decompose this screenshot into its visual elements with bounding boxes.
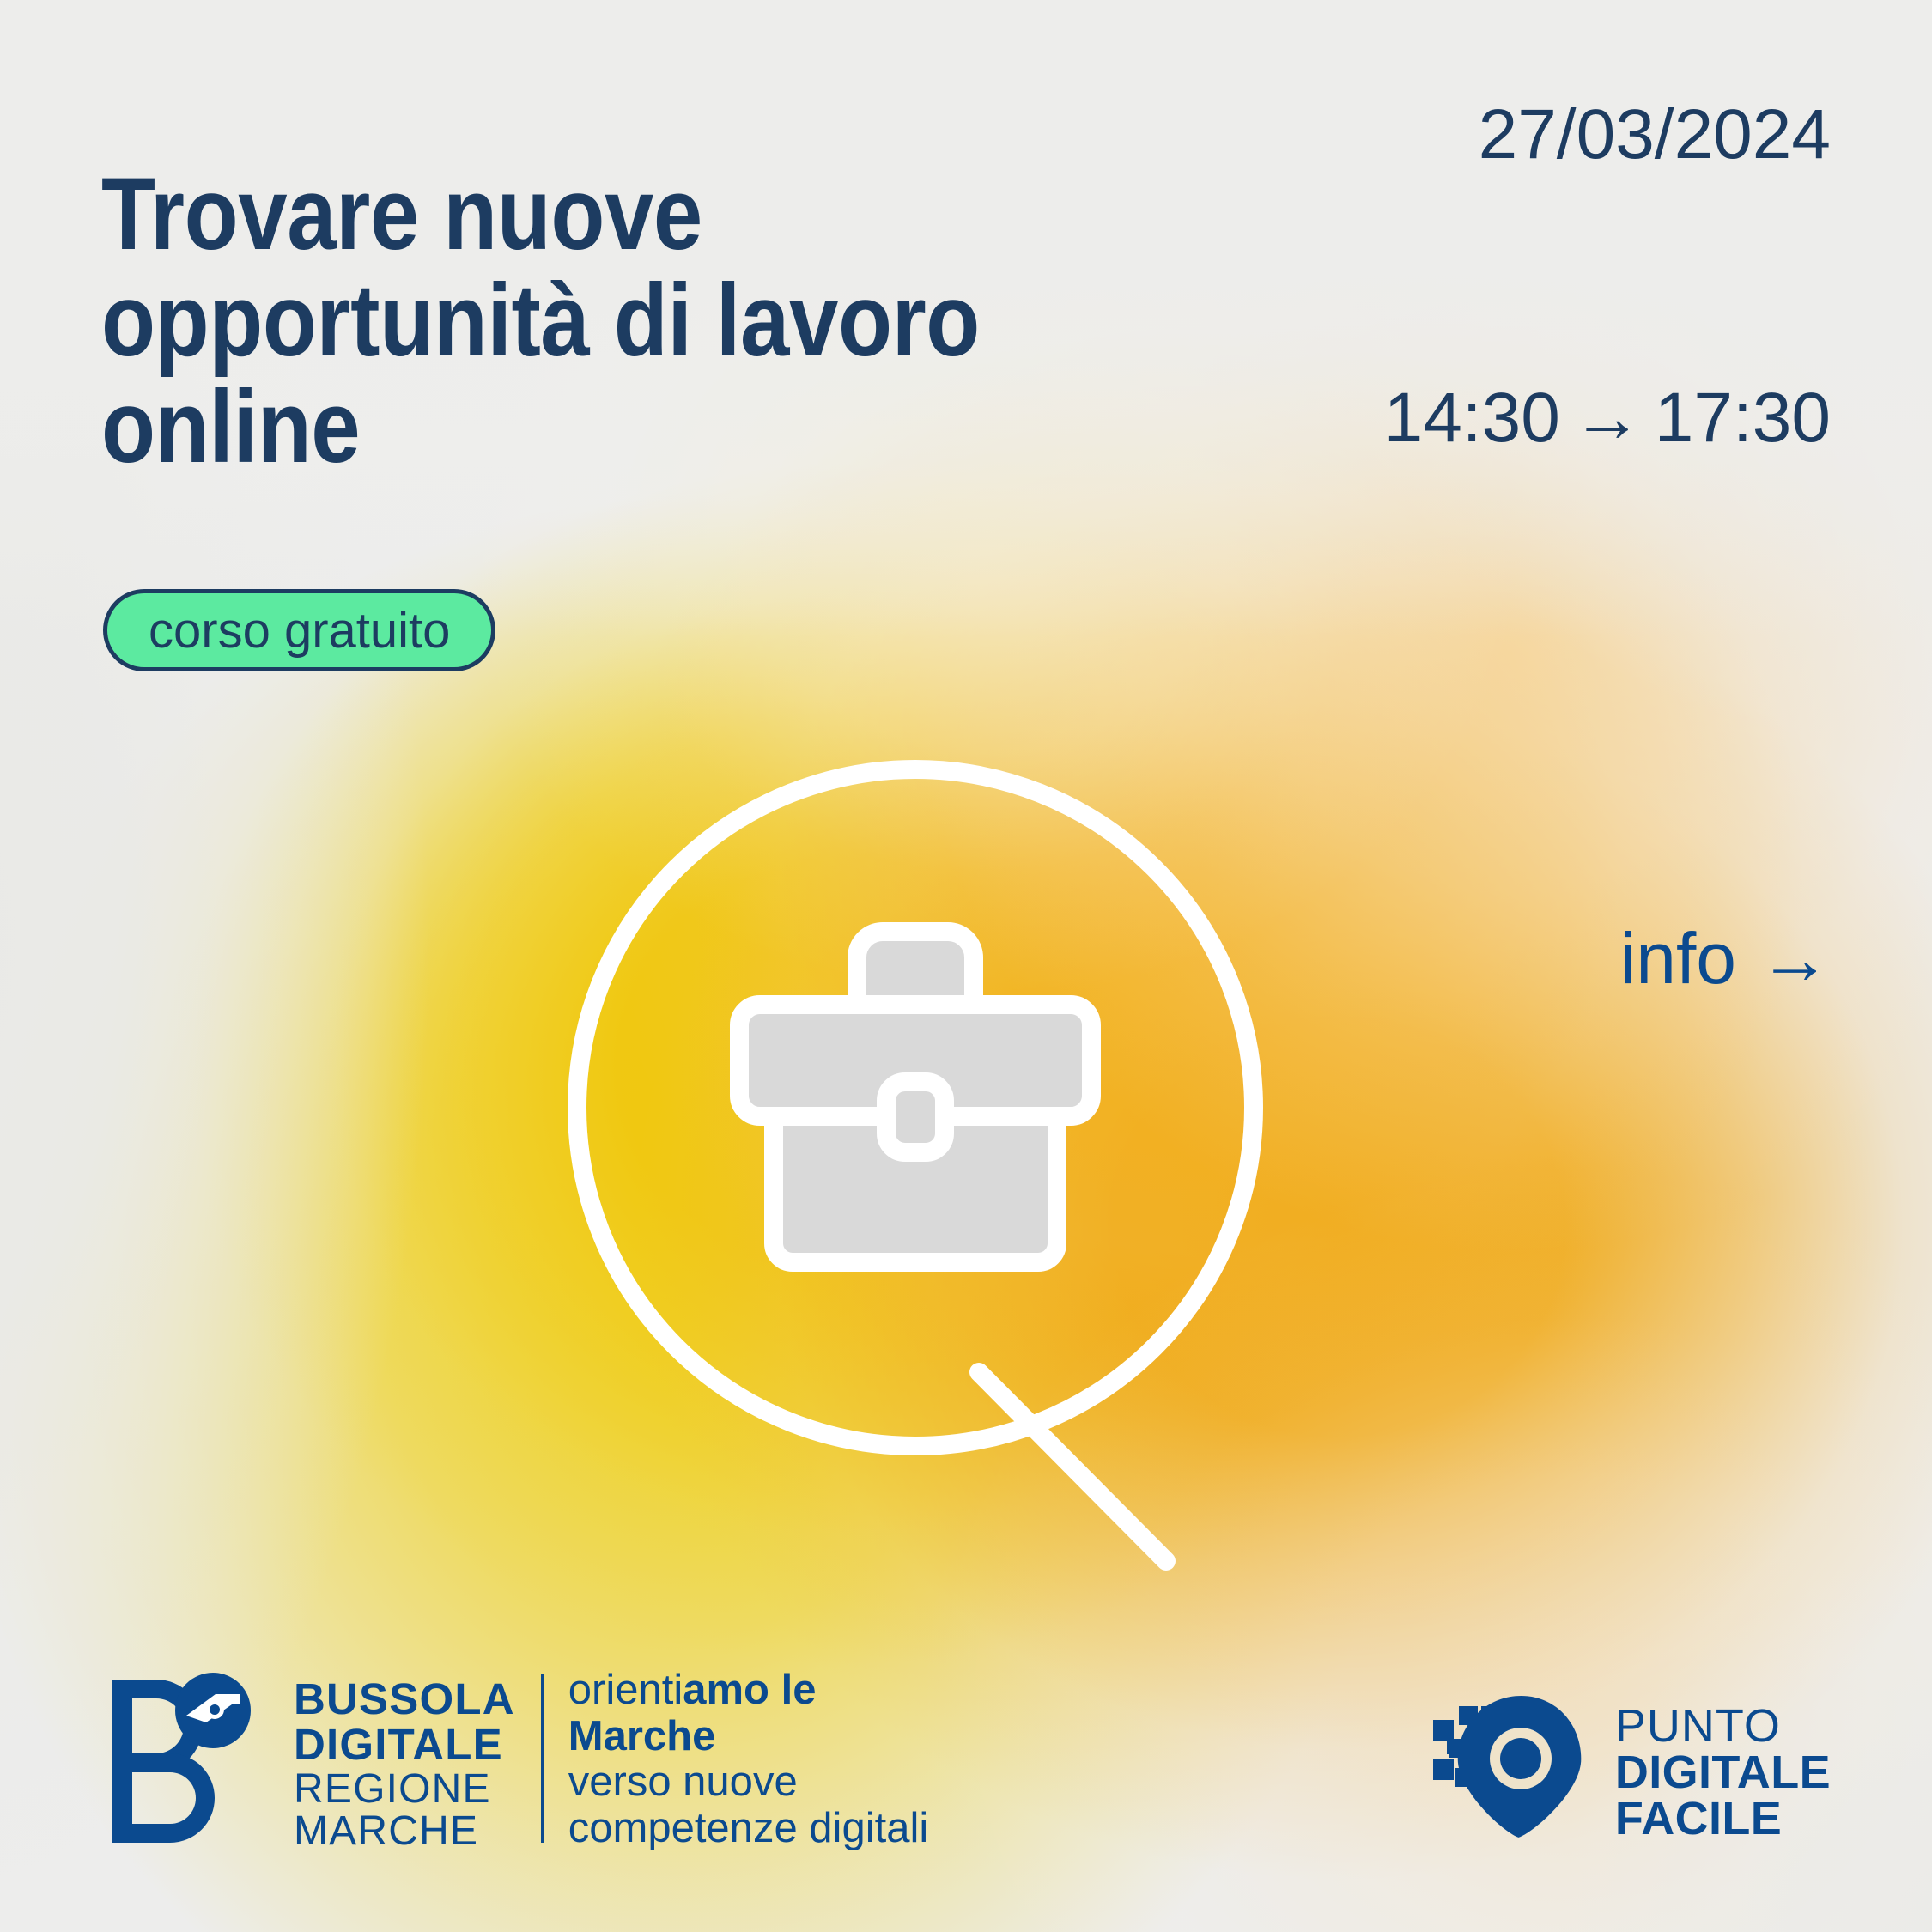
briefcase-icon xyxy=(739,932,1091,1262)
event-date: 27/03/2024 xyxy=(1479,94,1831,175)
bussola-dd-compass-mark xyxy=(103,1673,275,1853)
tagline-line-1-normal: orienti xyxy=(568,1667,683,1713)
bussola-line-1: BUSSOLA xyxy=(294,1677,515,1722)
arrow-right-icon: → xyxy=(1759,917,1831,1000)
info-link-label: info xyxy=(1620,917,1736,1000)
tagline-line-4: competenze digitali xyxy=(568,1805,928,1851)
info-link[interactable]: info → xyxy=(1620,917,1831,1000)
event-time-start: 14:30 xyxy=(1384,379,1560,457)
pdf-line-1: PUNTO xyxy=(1615,1703,1831,1749)
magnifier-briefcase-icon xyxy=(532,738,1494,1614)
logo-divider xyxy=(541,1674,544,1843)
tagline-line-1-bold: amo le xyxy=(683,1667,816,1713)
pixel-map-pin-mark xyxy=(1428,1694,1591,1850)
event-time-end: 17:30 xyxy=(1655,379,1831,457)
logo-punto-digitale-facile: PUNTO DIGITALE FACILE xyxy=(1428,1694,1831,1850)
bussola-line-3: REGIONE xyxy=(294,1768,515,1811)
event-time-range: 14:30→17:30 xyxy=(1384,378,1831,459)
bussola-line-2: DIGITALE xyxy=(294,1722,515,1768)
status-badge-label: corso gratuito xyxy=(149,602,450,659)
tagline-line-3: verso nuove xyxy=(568,1759,798,1805)
tagline-line-2: Marche xyxy=(568,1713,716,1759)
bussola-wordmark: BUSSOLA DIGITALE REGIONE MARCHE xyxy=(294,1677,515,1853)
bussola-tagline: orientiamo le Marche verso nuove compete… xyxy=(568,1668,928,1853)
page-title: Trovare nuove opportunità di lavoro onli… xyxy=(101,161,1150,480)
bussola-line-4: MARCHE xyxy=(294,1810,515,1853)
pdf-line-2: DIGITALE xyxy=(1615,1749,1831,1795)
status-badge: corso gratuito xyxy=(103,589,495,671)
poster-canvas: Trovare nuove opportunità di lavoro onli… xyxy=(0,0,1932,1932)
logo-bussola-digitale: BUSSOLA DIGITALE REGIONE MARCHE orientia… xyxy=(103,1668,928,1853)
pdf-wordmark: PUNTO DIGITALE FACILE xyxy=(1615,1703,1831,1842)
arrow-right-icon: → xyxy=(1560,379,1655,457)
pdf-line-3: FACILE xyxy=(1615,1795,1831,1842)
